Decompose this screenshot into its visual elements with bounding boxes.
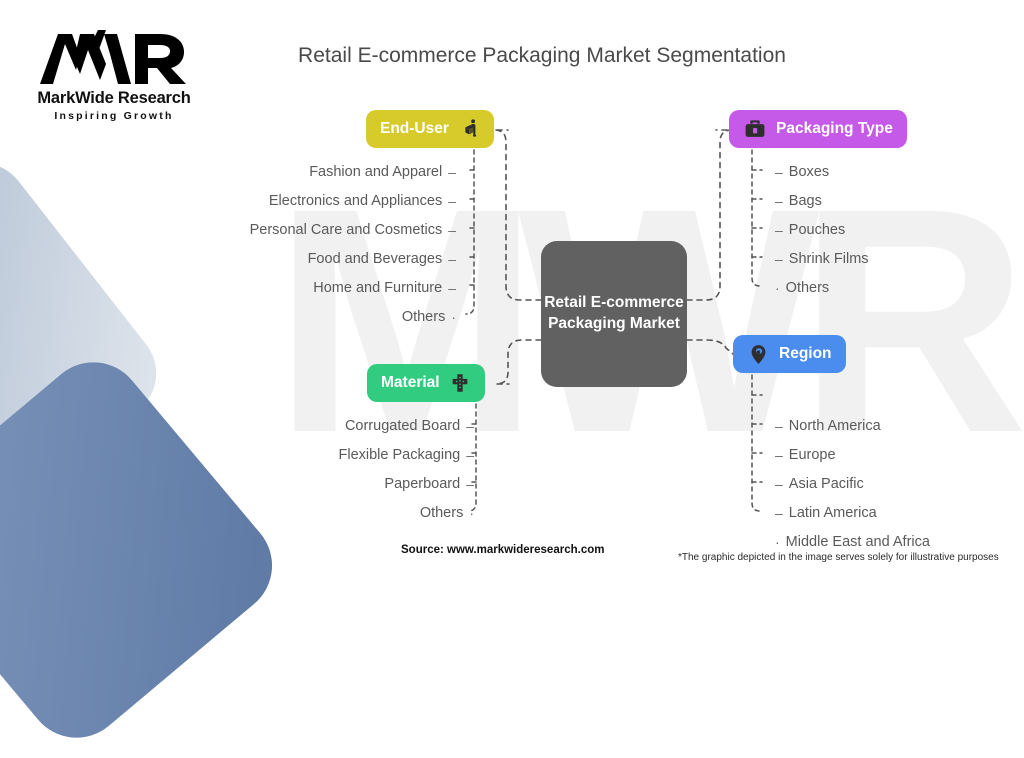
leader-dash: – xyxy=(448,222,456,238)
page-title: Retail E-commerce Packaging Market Segme… xyxy=(0,44,1024,68)
leader-dash: – xyxy=(448,280,456,296)
leader-dash: – xyxy=(466,476,474,492)
branch-label-end-user: End-User xyxy=(380,120,449,138)
center-node[interactable]: Retail E-commerce Packaging Market xyxy=(541,241,687,387)
list-item[interactable]: Home and Furniture– xyxy=(250,273,456,302)
list-item[interactable]: –Bags xyxy=(775,186,869,215)
list-item[interactable]: Others· xyxy=(250,302,456,331)
branch-badge-material[interactable]: Material xyxy=(367,364,485,402)
leader-dash: – xyxy=(775,476,783,492)
item-label: Home and Furniture xyxy=(313,280,442,296)
item-label: Boxes xyxy=(789,164,829,180)
item-label: Others xyxy=(786,280,830,296)
list-item[interactable]: Others· xyxy=(338,498,474,527)
item-label: Others xyxy=(402,309,446,325)
item-label: Middle East and Africa xyxy=(786,534,930,550)
branch-badge-end-user[interactable]: End-User xyxy=(366,110,494,148)
item-label: Shrink Films xyxy=(789,251,869,267)
list-item[interactable]: Personal Care and Cosmetics– xyxy=(250,215,456,244)
item-label: Paperboard xyxy=(384,476,460,492)
puzzle-cross-icon xyxy=(449,372,471,394)
list-item[interactable]: –Latin America xyxy=(775,498,930,527)
disclaimer-note: *The graphic depicted in the image serve… xyxy=(678,552,999,563)
leader-dash: – xyxy=(775,418,783,434)
delivery-person-box-icon xyxy=(458,118,480,140)
list-item[interactable]: ·Others xyxy=(775,273,869,302)
item-label: Personal Care and Cosmetics xyxy=(250,222,443,238)
leader-dash: · xyxy=(775,280,780,296)
branch-items-region: –North America –Europe –Asia Pacific –La… xyxy=(775,411,930,556)
leader-dash: – xyxy=(448,251,456,267)
leader-dash: · xyxy=(451,309,456,325)
leader-dash: · xyxy=(469,505,474,521)
list-item[interactable]: Flexible Packaging– xyxy=(338,440,474,469)
item-label: Latin America xyxy=(789,505,877,521)
list-item[interactable]: Paperboard– xyxy=(338,469,474,498)
item-label: Corrugated Board xyxy=(345,418,460,434)
leader-dash: – xyxy=(775,193,783,209)
branch-label-region: Region xyxy=(779,345,832,363)
list-item[interactable]: –North America xyxy=(775,411,930,440)
brand-name: MarkWide Research xyxy=(24,89,204,108)
leader-dash: · xyxy=(775,534,780,550)
item-label: Bags xyxy=(789,193,822,209)
leader-dash: – xyxy=(775,447,783,463)
leader-dash: – xyxy=(775,505,783,521)
leader-dash: – xyxy=(448,193,456,209)
item-label: Electronics and Appliances xyxy=(269,193,442,209)
branch-badge-packaging-type[interactable]: Packaging Type xyxy=(729,110,907,148)
item-label: Europe xyxy=(789,447,836,463)
toolbox-icon xyxy=(743,117,767,141)
leader-dash: – xyxy=(775,164,783,180)
branch-items-material: Corrugated Board– Flexible Packaging– Pa… xyxy=(338,411,474,527)
item-label: Fashion and Apparel xyxy=(309,164,442,180)
item-label: North America xyxy=(789,418,881,434)
list-item[interactable]: –Shrink Films xyxy=(775,244,869,273)
list-item[interactable]: Corrugated Board– xyxy=(338,411,474,440)
branch-items-end-user: Fashion and Apparel– Electronics and App… xyxy=(250,157,456,331)
item-label: Pouches xyxy=(789,222,845,238)
branch-label-material: Material xyxy=(381,374,440,392)
branch-label-packaging-type: Packaging Type xyxy=(776,120,893,138)
list-item[interactable]: –Asia Pacific xyxy=(775,469,930,498)
leader-dash: – xyxy=(775,251,783,267)
item-label: Asia Pacific xyxy=(789,476,864,492)
list-item[interactable]: Electronics and Appliances– xyxy=(250,186,456,215)
list-item[interactable]: –Pouches xyxy=(775,215,869,244)
brand-tagline: Inspiring Growth xyxy=(24,110,204,122)
branch-items-packaging-type: –Boxes –Bags –Pouches –Shrink Films ·Oth… xyxy=(775,157,869,302)
leader-dash: – xyxy=(775,222,783,238)
leader-dash: – xyxy=(466,418,474,434)
branch-badge-region[interactable]: Region xyxy=(733,335,846,373)
center-node-label: Retail E-commerce Packaging Market xyxy=(541,293,687,334)
leader-dash: – xyxy=(448,164,456,180)
item-label: Others xyxy=(420,505,464,521)
map-pin-gear-icon xyxy=(747,343,770,366)
list-item[interactable]: –Boxes xyxy=(775,157,869,186)
leader-dash: – xyxy=(466,447,474,463)
item-label: Food and Beverages xyxy=(308,251,443,267)
list-item[interactable]: Food and Beverages– xyxy=(250,244,456,273)
source-attribution: Source: www.markwideresearch.com xyxy=(401,544,604,556)
list-item[interactable]: Fashion and Apparel– xyxy=(250,157,456,186)
list-item[interactable]: –Europe xyxy=(775,440,930,469)
item-label: Flexible Packaging xyxy=(338,447,460,463)
